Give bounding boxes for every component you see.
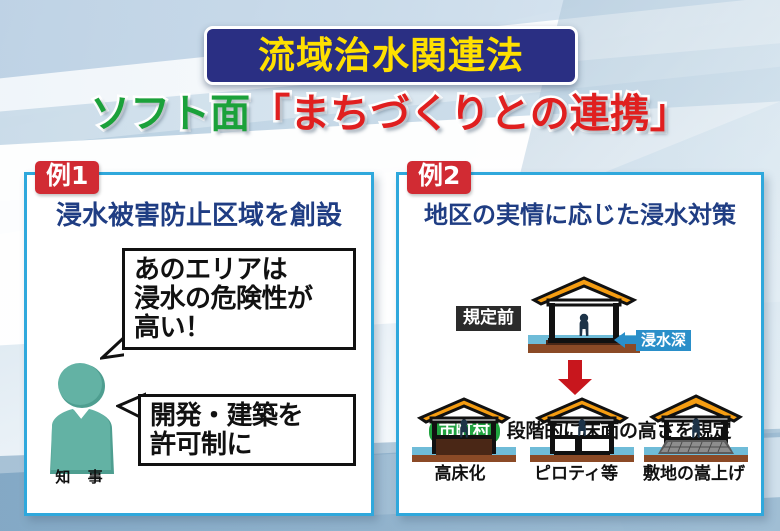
main-title-text: 流域治水関連法 [258,37,524,74]
inundation-depth-arrow-icon [614,330,636,350]
person-figure-icon [578,419,586,436]
house-raised-floor-diagram [412,396,516,464]
person-figure-icon [580,314,589,336]
example-2-heading: 地区の実情に応じた浸水対策 [399,203,761,227]
subtitle: ソフト面「まちづくりとの連携」 [0,94,780,134]
before-regulation-badge: 規定前 [456,306,521,331]
solution-label-1: ピロティ等 [512,466,640,483]
speech-bubble-1-text: あのエリアは 浸水の危険性が 高い！ [125,251,353,347]
subtitle-green-text: ソフト面 [90,91,250,137]
main-title: 流域治水関連法 [204,26,578,85]
house-pilotis-diagram [530,396,634,464]
example-2-badge: 例2 [407,161,471,194]
example-1-heading: 浸水被害防止区域を創設 [27,203,371,229]
infographic-canvas: 流域治水関連法 ソフト面「まちづくりとの連携」 例1 浸水被害防止区域を創設 あ… [0,0,780,531]
downward-arrow-icon [556,360,594,396]
subtitle-red-text: 「まちづくりとの連携」 [250,91,690,137]
governor-person-icon [40,362,124,480]
speech-bubble-2-text: 開発・建築を 許可制に [141,397,353,464]
main-title-box: 流域治水関連法 [204,26,578,85]
person-figure-icon [692,418,700,438]
house-site-elevation-diagram [644,392,748,464]
person-figure-icon [460,419,468,437]
solution-label-2: 敷地の嵩上げ [632,466,756,483]
speech-bubble-1: あのエリアは 浸水の危険性が 高い！ [122,248,356,350]
solution-label-0: 高床化 [404,466,516,483]
example-1-badge: 例1 [35,161,99,194]
speech-bubble-2: 開発・建築を 許可制に [138,394,356,466]
inundation-depth-badge: 浸水深 [636,330,691,351]
governor-label: 知 事 [30,466,134,487]
